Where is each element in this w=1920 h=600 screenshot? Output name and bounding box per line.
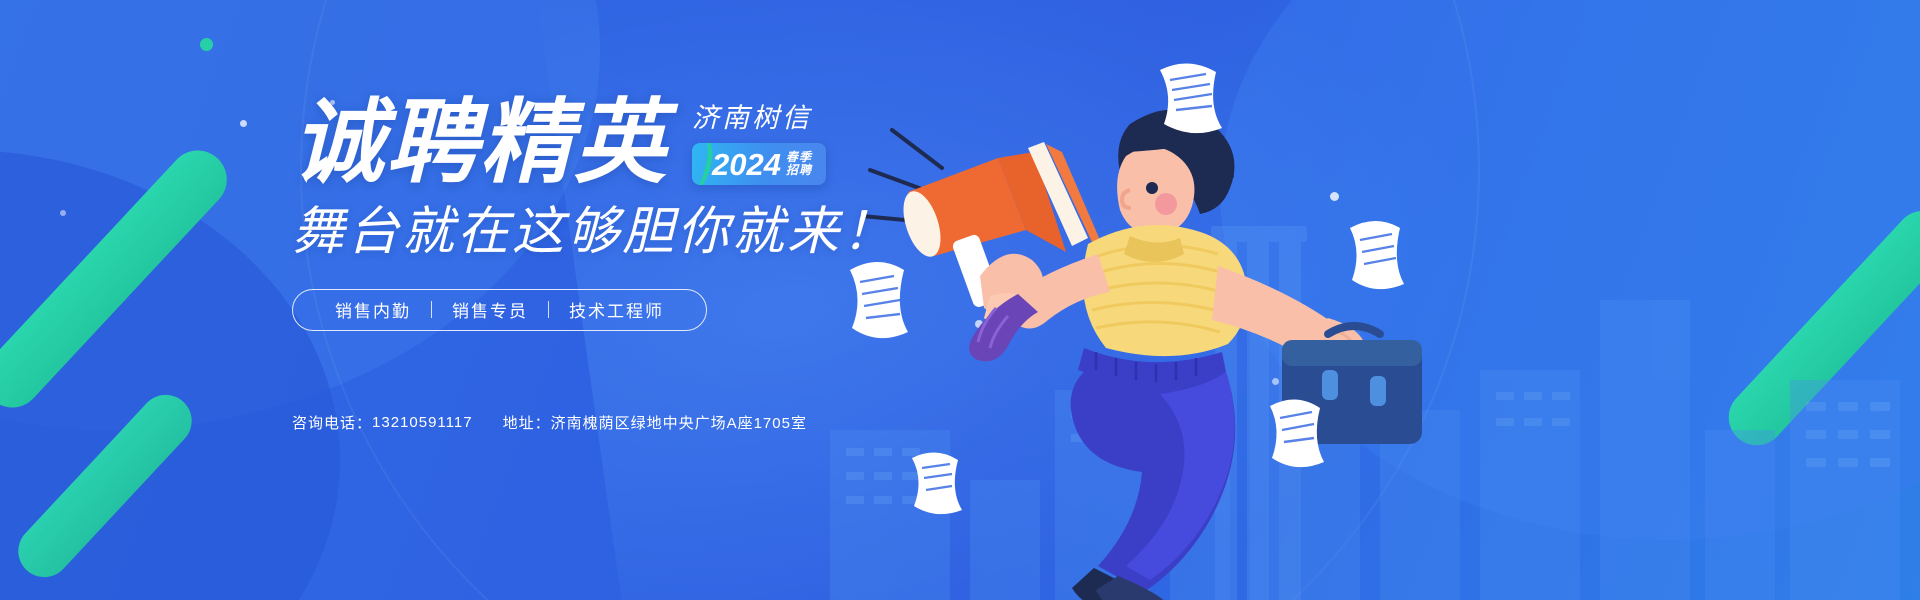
paper-4 <box>1270 399 1324 467</box>
paper-5 <box>912 452 962 514</box>
address-label: 地址： <box>503 412 551 433</box>
year-subtext-line2: 招聘 <box>786 164 812 177</box>
subtitle: 舞台就在这够胆你就来！ <box>292 203 1072 263</box>
brand-name: 济南树信 <box>692 96 812 135</box>
dot-2 <box>240 120 247 127</box>
year-subtext: 春季 招聘 <box>786 151 812 176</box>
job-item-2[interactable]: 技术工程师 <box>549 297 684 322</box>
contact-info: 咨询电话： 13210591117 地址： 济南槐荫区绿地中央广场A座1705室 <box>292 412 807 433</box>
paper-3 <box>1350 221 1404 289</box>
phone-label: 咨询电话： <box>292 412 372 433</box>
dot-9 <box>60 210 66 216</box>
phone-value: 13210591117 <box>372 414 473 431</box>
paper-1 <box>1160 63 1222 133</box>
address-value: 济南槐荫区绿地中央广场A座1705室 <box>551 412 807 433</box>
banner-content: 诚聘精英 济南树信 2024 春季 招聘 舞台就在这够胆你就来！ 销售内勤 销售… <box>292 96 1072 331</box>
year-number: 2024 <box>712 149 781 180</box>
brand-block: 济南树信 2024 春季 招聘 <box>692 96 826 189</box>
dot-1 <box>200 38 213 51</box>
job-item-0[interactable]: 销售内勤 <box>315 297 431 322</box>
job-positions-pill: 销售内勤 销售专员 技术工程师 <box>292 289 707 331</box>
year-badge: 2024 春季 招聘 <box>692 143 826 185</box>
page-title: 诚聘精英 <box>292 97 668 189</box>
headline-row: 诚聘精英 济南树信 2024 春季 招聘 <box>292 96 1072 189</box>
job-item-1[interactable]: 销售专员 <box>432 297 548 322</box>
recruitment-banner: 诚聘精英 济南树信 2024 春季 招聘 舞台就在这够胆你就来！ 销售内勤 销售… <box>0 0 1920 600</box>
